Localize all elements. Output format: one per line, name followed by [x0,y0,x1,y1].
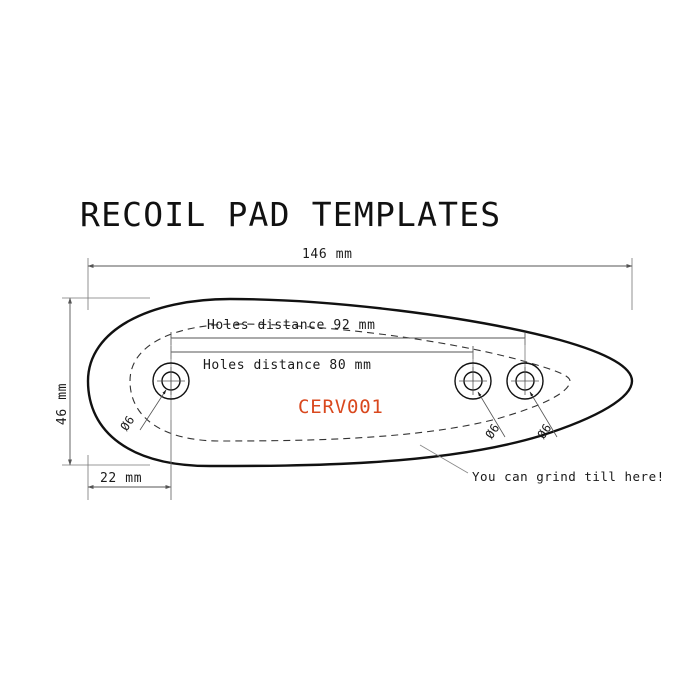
page-title: RECOIL PAD TEMPLATES [80,195,501,234]
hole-right-inner: Ø6 [455,363,505,441]
technical-drawing-canvas: RECOIL PAD TEMPLATES 146 mm 46 mm 22 mm [0,0,700,700]
grind-note-label: You can grind till here! [472,469,665,484]
dimension-label-holes-92: Holes distance 92 mm [207,318,376,333]
recoil-pad-drawing: RECOIL PAD TEMPLATES 146 mm 46 mm 22 mm [0,0,700,700]
dimension-overall-height: 46 mm [55,298,150,465]
hole-diameter-label: Ø6 [483,421,503,441]
dimension-holes-distance-80: Holes distance 80 mm [171,346,473,373]
dimension-overall-length: 146 mm [88,247,632,310]
hole-diameter-label: Ø6 [118,413,138,433]
dimension-label-height: 46 mm [55,383,70,425]
grind-note-leader-line [420,445,468,473]
grind-note-annotation: You can grind till here! [420,445,665,484]
dimension-label-length: 146 mm [302,247,353,262]
hole-diameter-label: Ø6 [535,421,555,441]
hole-leader-line [140,390,166,430]
grind-line-outline [130,324,570,441]
dimension-label-holes-80: Holes distance 80 mm [203,358,372,373]
part-code-label: CERV001 [298,396,384,418]
dimension-label-offset: 22 mm [100,471,142,486]
hole-left: Ø6 [118,363,189,433]
hole-right-outer: Ø6 [507,363,557,441]
